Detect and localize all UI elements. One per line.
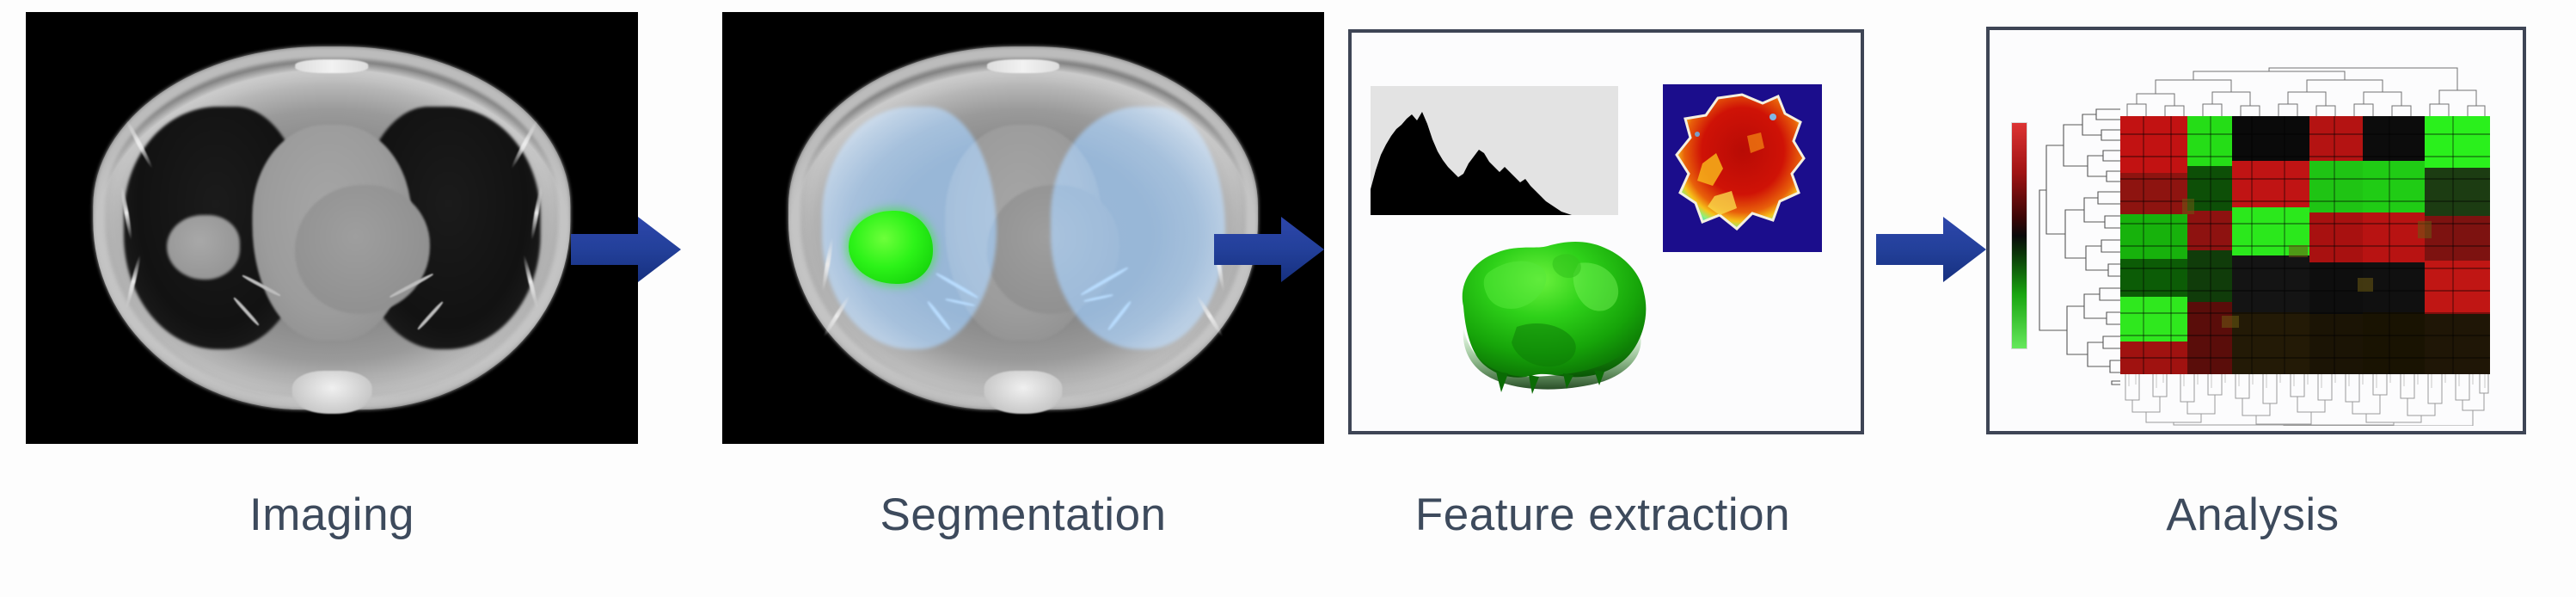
- caption-imaging: Imaging: [26, 492, 638, 538]
- histogram-plot-area: [1371, 86, 1618, 215]
- sample-dendrogram-tree: [2120, 374, 2490, 426]
- right-arrow-icon: [1873, 213, 1990, 286]
- expression-heatmap: [2120, 116, 2490, 374]
- sternum: [987, 59, 1059, 73]
- right-arrow-icon: [567, 213, 684, 286]
- spine: [984, 371, 1063, 414]
- spine: [292, 371, 372, 414]
- tumor-3d-surface: [1434, 224, 1684, 396]
- right-arrow-icon: [1211, 213, 1328, 286]
- lung-nodule: [167, 215, 240, 280]
- histogram-bars: [1371, 112, 1572, 215]
- row-dendrogram: [2034, 104, 2120, 388]
- intensity-histogram: [1371, 86, 1618, 215]
- sternum: [295, 59, 368, 73]
- caption-feature-extraction: Feature extraction: [1348, 492, 1857, 538]
- arrow-feature-extraction-to-analysis: [1873, 213, 1990, 286]
- tumor-3d-rendering: [1434, 224, 1684, 396]
- imaging-panel: [26, 12, 638, 444]
- arrow-imaging-to-segmentation: [567, 213, 684, 286]
- caption-analysis: Analysis: [1986, 492, 2519, 538]
- lung-overlay-right: [1051, 107, 1225, 348]
- heatmap-colorbar: [2012, 123, 2027, 348]
- caption-segmentation: Segmentation: [722, 492, 1324, 538]
- analysis-panel: [1986, 27, 2526, 434]
- texture-heatmap: [1663, 84, 1822, 252]
- ct-slice-grayscale: [26, 12, 638, 444]
- texture-heatmap-image: [1663, 84, 1822, 252]
- row-dendrogram-tree: [2034, 104, 2120, 388]
- column-dendrogram: [2120, 66, 2490, 116]
- column-dendrogram-tree: [2120, 66, 2490, 116]
- feature-extraction-panel: [1348, 29, 1864, 434]
- arrow-segmentation-to-feature-extraction: [1211, 213, 1328, 286]
- expression-heatmap-cells: [2120, 116, 2490, 374]
- sample-dendrogram-bottom: [2120, 374, 2490, 426]
